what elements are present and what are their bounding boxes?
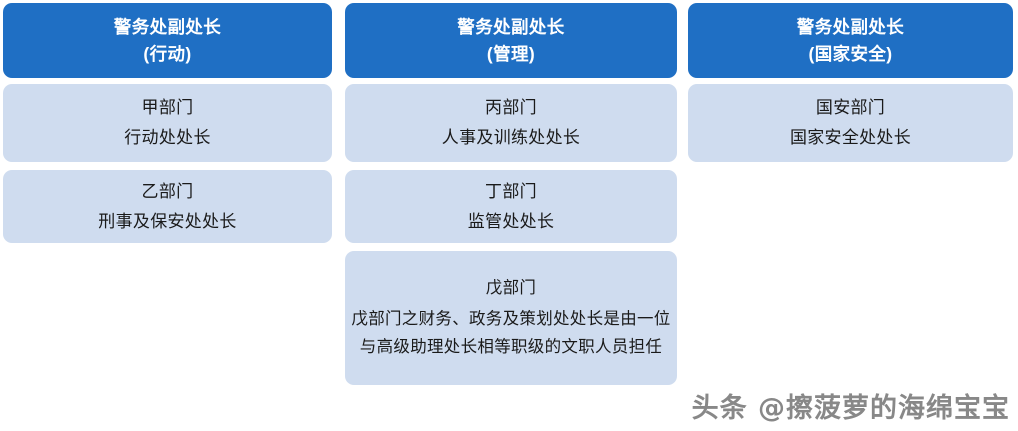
header-node-operations-title: 警务处副处长 — [114, 14, 221, 41]
org-node-department-guoan[interactable]: 国安部门 国家安全处处长 — [688, 84, 1013, 162]
header-node-national-security[interactable]: 警务处副处长 (国家安全) — [688, 3, 1013, 78]
org-chart: 警务处副处长 (行动) 甲部门 行动处处长 乙部门 刑事及保安处处长 警务处副处… — [0, 0, 1018, 431]
header-node-management[interactable]: 警务处副处长 (管理) — [345, 3, 677, 78]
org-node-department-wu-role: 戊部门之财务、政务及策划处处长是由一位与高级助理处长相等职级的文职人员担任 — [345, 305, 677, 362]
header-node-operations-qualifier: (行动) — [143, 41, 191, 68]
org-node-department-yi-role: 刑事及保安处处长 — [98, 208, 236, 236]
header-node-national-security-title: 警务处副处长 — [797, 14, 904, 41]
org-node-department-bing-label: 丙部门 — [485, 94, 537, 122]
org-node-department-guoan-label: 国安部门 — [816, 94, 885, 122]
watermark: 头条 @擦菠萝的海绵宝宝 — [692, 386, 1010, 425]
org-node-department-bing[interactable]: 丙部门 人事及训练处处长 — [345, 84, 677, 162]
header-node-national-security-qualifier: (国家安全) — [808, 41, 892, 68]
org-node-department-wu[interactable]: 戊部门 戊部门之财务、政务及策划处处长是由一位与高级助理处长相等职级的文职人员担… — [345, 251, 677, 385]
org-node-department-ding-label: 丁部门 — [485, 178, 537, 206]
org-node-department-yi-label: 乙部门 — [142, 178, 194, 206]
org-node-department-yi[interactable]: 乙部门 刑事及保安处处长 — [3, 170, 332, 243]
org-node-department-guoan-role: 国家安全处处长 — [790, 124, 911, 152]
org-node-department-ding-role: 监管处处长 — [468, 208, 555, 236]
org-node-department-bing-role: 人事及训练处处长 — [442, 124, 580, 152]
header-node-operations[interactable]: 警务处副处长 (行动) — [3, 3, 332, 78]
org-node-department-ding[interactable]: 丁部门 监管处处长 — [345, 170, 677, 243]
header-node-management-title: 警务处副处长 — [457, 14, 564, 41]
org-node-department-jia[interactable]: 甲部门 行动处处长 — [3, 84, 332, 162]
org-node-department-wu-label: 戊部门 — [486, 274, 536, 302]
org-node-department-jia-label: 甲部门 — [142, 94, 194, 122]
header-node-management-qualifier: (管理) — [487, 41, 535, 68]
org-node-department-jia-role: 行动处处长 — [124, 124, 211, 152]
